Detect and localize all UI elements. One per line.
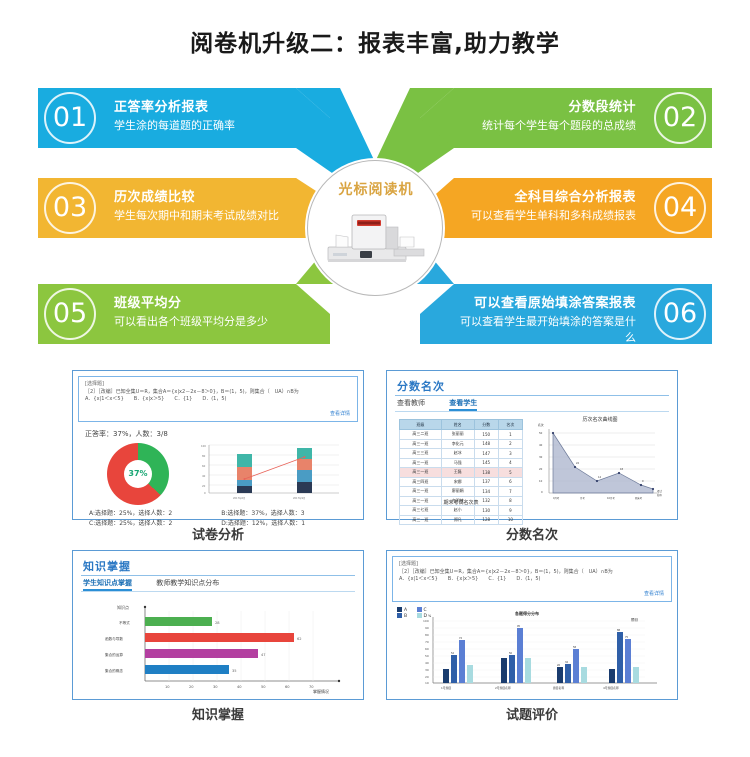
svg-text:40: 40 — [237, 685, 242, 689]
screenshot-panels: [选择题] ［2］［改编］已知全集U＝R，集合A＝{x|x2－2x－8＞0}，B… — [0, 362, 750, 757]
table-cell-rank: 5 — [498, 468, 522, 478]
table-header-row: 班级 姓名 分数 名次 — [400, 420, 523, 430]
table-cell-score: 148 — [474, 439, 498, 449]
panel-screenshot: 知识掌握 学生知识点掌握 教师教学知识点分布 知识点 掌握情况 — [72, 550, 364, 700]
svg-text:50: 50 — [425, 654, 429, 658]
callout-number: 05 — [44, 288, 96, 340]
svg-text:18: 18 — [620, 468, 624, 471]
table-row[interactable]: 高三一班廖丽娟1347 — [400, 487, 523, 497]
svg-text:75: 75 — [625, 636, 629, 639]
callout-text: 历次成绩比较 学生每次期中和期末考试成绩对比 — [114, 189, 279, 224]
panel-tabs[interactable]: 学生知识点掌握 教师教学知识点分布 — [83, 578, 241, 588]
callout-number: 03 — [44, 182, 96, 234]
svg-text:%: % — [428, 614, 432, 618]
table-cell-rank: 6 — [498, 477, 522, 487]
correct-rate-donut-chart: 37% — [107, 443, 169, 505]
callout-number: 04 — [654, 182, 706, 234]
table-caption: 期末考试名次表 — [399, 499, 523, 506]
question-box: [选择题] ［2］［改编］已知全集U＝R，集合A＝{x|x2－2x－8＞0}，B… — [78, 376, 358, 422]
question-line-2: A．{x|1＜x＜5} B．{x|x＞5} C．{1} D．(1，5) — [399, 576, 665, 584]
callout-desc: 可以查看学生最开始填涂的答案是什么 — [454, 314, 636, 346]
table-cell-rank: 9 — [498, 506, 522, 516]
callout-text: 分数段统计 统计每个学生每个题段的总成绩 — [482, 99, 636, 134]
question-line-2: A．{x|1＜x＜5} B．{x|x＞5} C．{1} D．(1，5) — [85, 396, 351, 404]
svg-text:60: 60 — [425, 647, 429, 651]
svg-text:62: 62 — [297, 637, 302, 641]
view-detail-link[interactable]: 查看详情 — [644, 591, 664, 599]
center-label: 光标阅读机 — [308, 179, 444, 199]
feature-diagram: 光标阅读机 01 正答率分析报表 学生涂的每道题的正确率 02 分数段统计 统计… — [0, 70, 750, 360]
svg-text:50: 50 — [261, 685, 266, 689]
question-tag: [选择题] — [85, 381, 351, 389]
svg-text:88: 88 — [617, 629, 621, 632]
callout-text: 可以查看原始填涂答案报表 可以查看学生最开始填涂的答案是什么 — [454, 295, 636, 346]
table-cell-rank: 1 — [498, 430, 522, 440]
callout-desc: 可以看出各个班级平均分是多少 — [114, 314, 268, 330]
table-row[interactable]: 高三二班张丽丽1501 — [400, 430, 523, 440]
callout-desc: 可以查看学生单科和多科成绩报表 — [471, 208, 636, 224]
svg-text:90: 90 — [425, 626, 429, 630]
panel-heading: 知识掌握 — [83, 558, 131, 574]
svg-text:80: 80 — [202, 454, 206, 458]
callout-title: 班级平均分 — [114, 295, 268, 312]
table-cell-class: 高三一班 — [400, 458, 442, 468]
option-stat-b: B:选择题：37%，选择人数：3 — [221, 509, 351, 519]
svg-text:2017年6月: 2017年6月 — [233, 496, 245, 500]
callout-desc: 学生涂的每道题的正确率 — [114, 118, 235, 134]
table-cell-class: 高三三班 — [400, 449, 442, 459]
tab-student-mastery[interactable]: 学生知识点掌握 — [83, 579, 132, 591]
svg-text:0: 0 — [204, 491, 206, 495]
donut-center-value: 37% — [124, 460, 152, 488]
svg-text:9月考: 9月考 — [553, 496, 560, 500]
question-score-grouped-bar-chart: 各题得分分布 题目 % 100 90 80 70 60 50 — [395, 609, 671, 695]
tab-teacher-distribution[interactable]: 教师教学知识点分布 — [156, 579, 219, 587]
rank-trend-area-chart: 50 40 30 20 10 0 名次 22 14 18 9 9月考 月考 — [535, 419, 665, 507]
heading-divider — [395, 395, 669, 396]
table-row[interactable]: 高三一班李化元1482 — [400, 439, 523, 449]
svg-text:14: 14 — [598, 476, 602, 479]
svg-text:2017年9月: 2017年9月 — [293, 496, 305, 500]
svg-text:考试: 考试 — [657, 489, 662, 493]
callout-text: 班级平均分 可以看出各个班级平均分是多少 — [114, 295, 268, 330]
svg-text:52: 52 — [451, 652, 455, 655]
tab-view-student[interactable]: 查看学生 — [449, 399, 477, 411]
col-name: 姓名 — [441, 420, 474, 430]
view-detail-link[interactable]: 查看详情 — [330, 411, 350, 419]
callout-title: 全科目综合分析报表 — [471, 189, 636, 206]
svg-text:集合的概念: 集合的概念 — [105, 668, 123, 673]
tab-view-teacher[interactable]: 查看教师 — [397, 399, 425, 407]
svg-text:26: 26 — [557, 664, 561, 667]
svg-text:4号题目名称: 4号题目名称 — [603, 686, 619, 690]
svg-text:70: 70 — [309, 685, 314, 689]
panel-screenshot: [选择题] ［2］［改编］已知全集U＝R，集合A＝{x|x2－2x－8＞0}，B… — [72, 370, 364, 520]
callout-03[interactable]: 03 历次成绩比较 学生每次期中和期末考试成绩对比 — [38, 178, 296, 238]
svg-text:30: 30 — [539, 455, 543, 459]
question-box: [选择题] ［2］［改编］已知全集U＝R，集合A＝{x|x2－2x－8＞0}，B… — [392, 556, 672, 602]
table-cell-class: 高三一班 — [400, 439, 442, 449]
callout-text: 正答率分析报表 学生涂的每道题的正确率 — [114, 99, 235, 134]
svg-text:掌握情况: 掌握情况 — [313, 688, 329, 694]
table-cell-class: 高三二班 — [400, 430, 442, 440]
optical-mark-reader-icon — [324, 207, 428, 269]
svg-text:40: 40 — [425, 661, 429, 665]
callout-06[interactable]: 06 可以查看原始填涂答案报表 可以查看学生最开始填涂的答案是什么 — [454, 284, 712, 344]
callout-title: 分数段统计 — [482, 99, 636, 116]
panel-caption: 知识掌握 — [72, 704, 364, 723]
table-cell-name: 王磊 — [441, 468, 474, 478]
svg-text:35: 35 — [232, 669, 237, 673]
question-line-1: ［2］［改编］已知全集U＝R，集合A＝{x|x2－2x－8＞0}，B＝(1，5)… — [399, 569, 665, 577]
callout-text: 全科目综合分析报表 可以查看学生单科和多科成绩报表 — [471, 189, 636, 224]
table-cell-name: 宋娜 — [441, 477, 474, 487]
center-circle: 光标阅读机 — [307, 160, 443, 296]
svg-text:月考: 月考 — [580, 496, 585, 500]
option-stat-a: A:选择题：25%，选择人数：2 — [89, 509, 219, 519]
option-stacked-bar-chart: 100 80 60 40 20 0 2017年6月 2 — [193, 441, 343, 503]
svg-text:10月考: 10月考 — [607, 496, 615, 500]
svg-text:函数与导数: 函数与导数 — [105, 636, 123, 641]
grouped-chart-title: 各题得分分布 — [514, 610, 539, 616]
callout-number: 01 — [44, 92, 96, 144]
table-cell-rank: 2 — [498, 439, 522, 449]
callout-desc: 统计每个学生每个题段的总成绩 — [482, 118, 636, 134]
svg-text:题目: 题目 — [631, 617, 638, 622]
table-cell-score: 147 — [474, 449, 498, 459]
panel-heading: 分数名次 — [397, 378, 445, 394]
table-cell-name: 赵冰 — [441, 449, 474, 459]
svg-text:80: 80 — [425, 633, 429, 637]
page-title: 阅卷机升级二：报表丰富,助力教学 — [0, 24, 750, 58]
table-row[interactable]: 高三一班马强1454 — [400, 458, 523, 468]
callout-title: 正答率分析报表 — [114, 99, 235, 116]
table-row[interactable]: 高三七班赵小1309 — [400, 506, 523, 516]
table-row[interactable]: 高三三班赵冰1473 — [400, 449, 523, 459]
panel-screenshot: 分数名次 查看教师 查看学生 班级 姓名 分数 名次 高三二班张丽丽1501高三… — [386, 370, 678, 520]
svg-text:20: 20 — [189, 685, 194, 689]
svg-text:20: 20 — [425, 675, 429, 679]
table-cell-score: 145 — [474, 458, 498, 468]
svg-text:70: 70 — [425, 640, 429, 644]
svg-text:28: 28 — [215, 621, 220, 625]
svg-text:不等式: 不等式 — [119, 620, 130, 625]
ranking-table: 班级 姓名 分数 名次 高三二班张丽丽1501高三一班李化元1482高三三班赵冰… — [399, 419, 523, 525]
callout-desc: 学生每次期中和期末考试成绩对比 — [114, 208, 279, 224]
callout-02[interactable]: 02 分数段统计 统计每个学生每个题段的总成绩 — [454, 88, 712, 148]
callout-number: 02 — [654, 92, 706, 144]
table-cell-score: 134 — [474, 487, 498, 497]
svg-text:20: 20 — [202, 484, 206, 488]
panel-screenshot: [选择题] ［2］［改编］已知全集U＝R，集合A＝{x|x2－2x－8＞0}，B… — [386, 550, 678, 700]
svg-text:2号题目名称: 2号题目名称 — [495, 686, 511, 690]
table-cell-rank: 3 — [498, 449, 522, 459]
svg-text:40: 40 — [202, 474, 206, 478]
table-cell-name: 马强 — [441, 458, 474, 468]
callout-title: 历次成绩比较 — [114, 189, 279, 206]
svg-text:10: 10 — [425, 681, 429, 685]
svg-text:30: 30 — [213, 685, 218, 689]
knowledge-mastery-bar-chart: 知识点 掌握情况 10 20 30 40 50 60 70 28 不等式 — [83, 599, 359, 695]
table-cell-class: 高三四班 — [400, 477, 442, 487]
heading-divider — [81, 575, 355, 576]
svg-text:100: 100 — [201, 444, 206, 448]
table-cell-class: 高三一班 — [400, 487, 442, 497]
svg-text:20: 20 — [539, 467, 543, 471]
table-cell-score: 138 — [474, 468, 498, 478]
panel-tabs[interactable]: 查看教师 查看学生 — [397, 398, 499, 408]
svg-text:30: 30 — [425, 668, 429, 672]
callout-04[interactable]: 04 全科目综合分析报表 可以查看学生单科和多科成绩报表 — [454, 178, 712, 238]
svg-text:10: 10 — [539, 479, 543, 483]
svg-text:题目名称: 题目名称 — [553, 686, 564, 690]
svg-text:期末考: 期末考 — [635, 496, 643, 500]
callout-number: 06 — [654, 288, 706, 340]
svg-text:58: 58 — [573, 646, 577, 649]
table-cell-name: 李化元 — [441, 439, 474, 449]
callout-05[interactable]: 05 班级平均分 可以看出各个班级平均分是多少 — [38, 284, 296, 344]
svg-text:1号题目: 1号题目 — [441, 686, 451, 690]
tabs-divider — [395, 411, 669, 412]
tabs-divider — [81, 591, 355, 592]
svg-text:名次: 名次 — [538, 423, 544, 427]
svg-text:集合的运算: 集合的运算 — [105, 652, 123, 657]
svg-text:10: 10 — [165, 685, 170, 689]
panel-caption: 分数名次 — [386, 524, 678, 543]
svg-text:72: 72 — [459, 637, 463, 640]
col-rank: 名次 — [498, 420, 522, 430]
col-score: 分数 — [474, 420, 498, 430]
svg-text:0: 0 — [541, 490, 543, 494]
table-row[interactable]: 高三四班宋娜1376 — [400, 477, 523, 487]
svg-text:50: 50 — [539, 431, 543, 435]
table-cell-score: 150 — [474, 430, 498, 440]
table-cell-name: 廖丽娟 — [441, 487, 474, 497]
ranking-table-body: 高三二班张丽丽1501高三一班李化元1482高三三班赵冰1473高三一班马强14… — [400, 430, 523, 525]
svg-text:60: 60 — [202, 464, 206, 468]
svg-text:32: 32 — [565, 661, 569, 664]
svg-text:60: 60 — [285, 685, 290, 689]
svg-text:50: 50 — [509, 652, 513, 655]
question-tag: [选择题] — [399, 561, 665, 569]
table-cell-class: 高三七班 — [400, 506, 442, 516]
svg-text:名称: 名称 — [657, 493, 662, 497]
panel-caption: 试题评价 — [386, 704, 678, 723]
question-line-1: ［2］［改编］已知全集U＝R，集合A＝{x|x2－2x－8＞0}，B＝(1，5)… — [85, 389, 351, 397]
svg-text:22: 22 — [576, 462, 580, 465]
svg-text:100: 100 — [423, 619, 429, 623]
table-cell-rank: 4 — [498, 458, 522, 468]
svg-text:47: 47 — [261, 653, 266, 657]
table-cell-rank: 7 — [498, 487, 522, 497]
table-row[interactable]: 高三一班王磊1385 — [400, 468, 523, 478]
table-cell-score: 137 — [474, 477, 498, 487]
svg-text:40: 40 — [539, 443, 543, 447]
col-class: 班级 — [400, 420, 442, 430]
svg-text:9: 9 — [642, 480, 644, 483]
table-cell-name: 赵小 — [441, 506, 474, 516]
panel-caption: 试卷分析 — [72, 524, 364, 543]
callout-title: 可以查看原始填涂答案报表 — [454, 295, 636, 312]
svg-text:95: 95 — [517, 625, 521, 628]
table-cell-score: 130 — [474, 506, 498, 516]
svg-text:知识点: 知识点 — [117, 604, 129, 610]
correct-rate-text: 正答率：37%，人数：3/8 — [85, 429, 168, 439]
callout-01[interactable]: 01 正答率分析报表 学生涂的每道题的正确率 — [38, 88, 296, 148]
table-cell-class: 高三一班 — [400, 468, 442, 478]
table-cell-name: 张丽丽 — [441, 430, 474, 440]
